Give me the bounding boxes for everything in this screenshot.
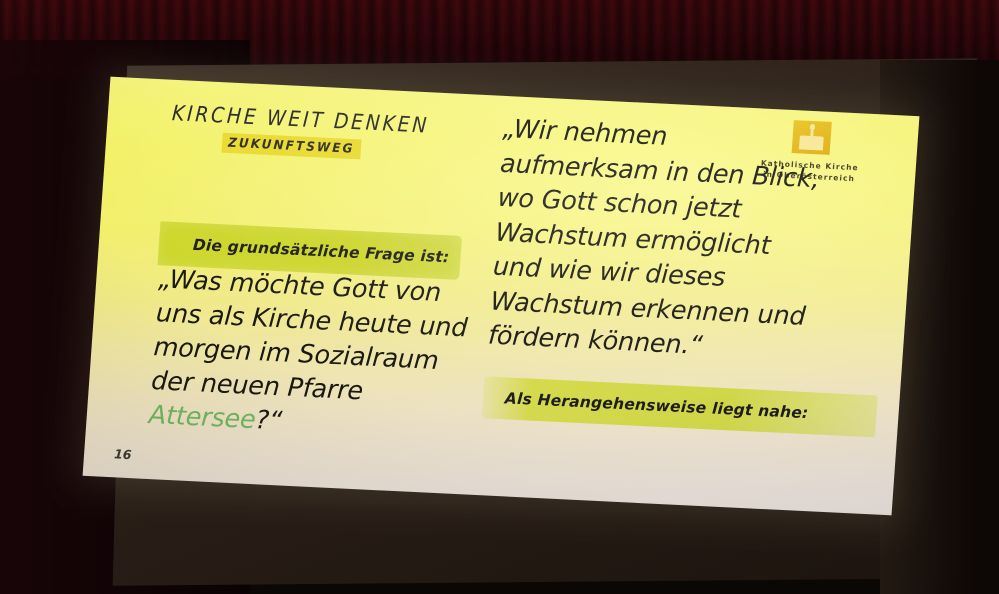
- left-column-quote: „Was möchte Gott von uns als Kirche heut…: [148, 263, 489, 448]
- brand-logo: KIRCHE WEIT DENKEN ZUKUNFTSWEG: [170, 104, 430, 162]
- brand-subtitle: ZUKUNFTSWEG: [221, 133, 361, 160]
- place-name: Attersee: [148, 400, 257, 435]
- right-column-label: Als Herangehensweise liegt nahe:: [481, 376, 877, 437]
- slide-canvas: KIRCHE WEIT DENKEN ZUKUNFTSWEG Katholisc…: [83, 77, 920, 516]
- quote-tail: ?“: [254, 405, 282, 436]
- projected-slide: KIRCHE WEIT DENKEN ZUKUNFTSWEG Katholisc…: [83, 77, 920, 516]
- right-column-quote: „Wir nehmen aufmerksam in den Blick, wo …: [487, 112, 893, 372]
- slide-page-number: 16: [114, 446, 132, 462]
